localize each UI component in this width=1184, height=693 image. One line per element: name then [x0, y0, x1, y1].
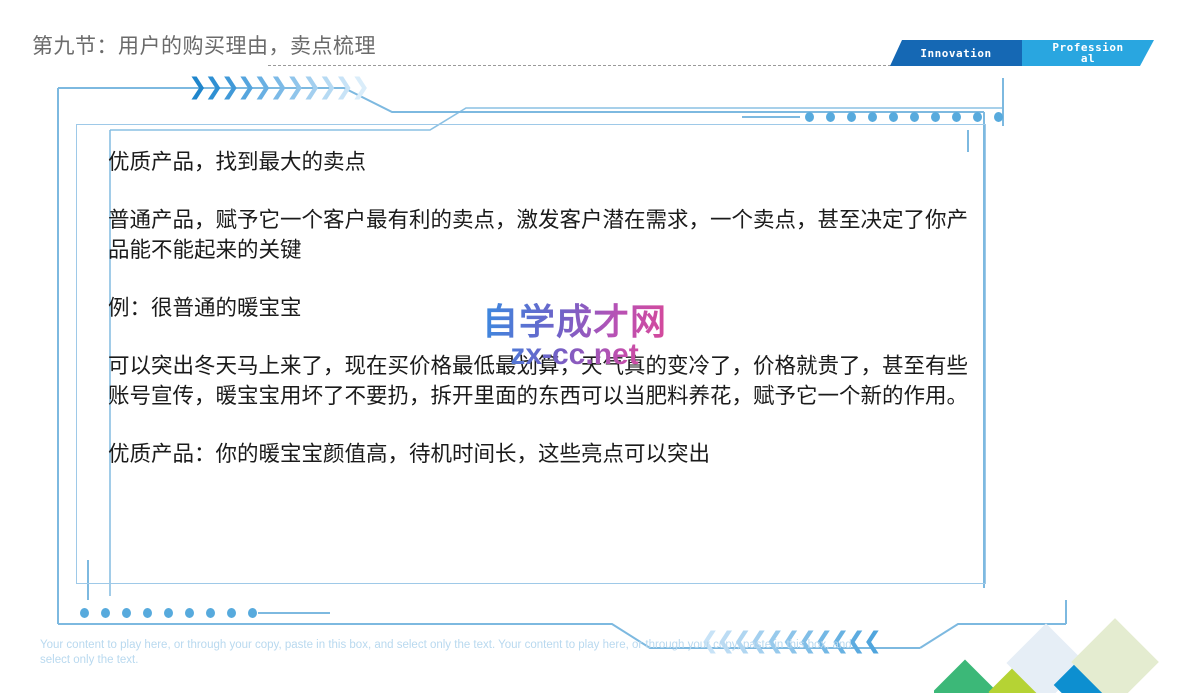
title-divider: [268, 65, 916, 66]
footer-placeholder-text: Your content to play here, or through yo…: [40, 638, 880, 668]
badge-group: Innovation Professional: [890, 40, 1154, 66]
dot-row-top-right: [805, 112, 1003, 122]
dot: [826, 112, 835, 122]
content-paragraph: 普通产品，赋予它一个客户最有利的卖点，激发客户潜在需求，一个卖点，甚至决定了你产…: [108, 206, 974, 266]
content-paragraph: 优质产品：你的暖宝宝颜值高，待机时间长，这些亮点可以突出: [108, 440, 974, 470]
dot: [206, 608, 215, 618]
badge-professional: Professional: [1022, 40, 1154, 66]
dot: [994, 112, 1003, 122]
dot-row-bottom-left: [80, 608, 257, 618]
dot: [973, 112, 982, 122]
dot: [122, 608, 131, 618]
dot: [101, 608, 110, 618]
dot: [910, 112, 919, 122]
chevron-right-icon: ❯: [351, 76, 370, 99]
badge-innovation: Innovation: [890, 40, 1022, 66]
dot: [185, 608, 194, 618]
content-paragraph: 可以突出冬天马上来了，现在买价格最低最划算，天气真的变冷了，价格就贵了，甚至有些…: [108, 352, 974, 412]
decorative-diamonds: [934, 613, 1184, 693]
content-paragraph: 例：很普通的暖宝宝: [108, 294, 974, 324]
page-title: 第九节：用户的购买理由，卖点梳理: [32, 30, 376, 60]
dot: [80, 608, 89, 618]
dot: [868, 112, 877, 122]
content-paragraph: 优质产品，找到最大的卖点: [108, 148, 974, 178]
dot: [164, 608, 173, 618]
badge-innovation-label: Innovation: [920, 48, 991, 59]
dot: [227, 608, 236, 618]
dot: [248, 608, 257, 618]
dot: [805, 112, 814, 122]
chevron-strip-top: ❯ ❯ ❯ ❯ ❯ ❯ ❯ ❯ ❯ ❯ ❯: [188, 76, 367, 99]
dot: [952, 112, 961, 122]
dot: [143, 608, 152, 618]
dot: [931, 112, 940, 122]
content-text-block[interactable]: 优质产品，找到最大的卖点 普通产品，赋予它一个客户最有利的卖点，激发客户潜在需求…: [108, 148, 974, 470]
badge-professional-label: Professional: [1052, 42, 1124, 64]
dot: [889, 112, 898, 122]
dot: [847, 112, 856, 122]
